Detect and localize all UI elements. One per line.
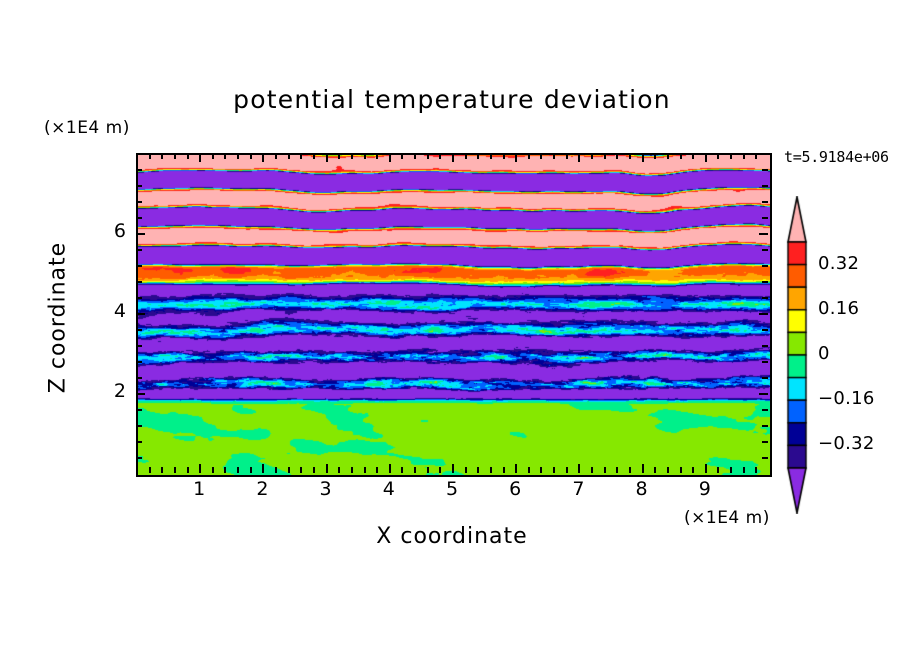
- tick-mark: [566, 153, 568, 159]
- tick-mark: [490, 467, 492, 473]
- tick-mark: [376, 467, 378, 473]
- tick-mark: [364, 153, 366, 159]
- tick-mark: [288, 153, 290, 159]
- tick-mark: [755, 153, 757, 159]
- tick-mark: [452, 464, 454, 473]
- tick-mark: [212, 153, 214, 159]
- tick-mark: [553, 153, 555, 159]
- tick-mark: [465, 153, 467, 159]
- tick-mark: [762, 169, 768, 171]
- x-tick-label: 2: [242, 478, 282, 500]
- tick-mark: [515, 153, 517, 162]
- contour-field-canvas: [138, 155, 770, 475]
- colorbar-canvas: [784, 196, 810, 514]
- tick-mark: [262, 153, 264, 162]
- z-axis-unit-label: (×1E4 m): [44, 118, 130, 138]
- tick-mark: [161, 153, 163, 159]
- tick-mark: [338, 153, 340, 159]
- tick-mark: [300, 153, 302, 159]
- x-tick-label: 7: [558, 478, 598, 500]
- tick-mark: [490, 153, 492, 159]
- tick-mark: [427, 153, 429, 159]
- tick-mark: [762, 329, 768, 331]
- tick-mark: [477, 153, 479, 159]
- tick-mark: [187, 153, 189, 159]
- tick-mark: [414, 467, 416, 473]
- tick-mark: [237, 153, 239, 159]
- x-tick-label: 4: [369, 478, 409, 500]
- tick-mark: [743, 153, 745, 159]
- tick-mark: [250, 467, 252, 473]
- tick-mark: [401, 467, 403, 473]
- colorbar: [784, 196, 810, 514]
- tick-mark: [136, 233, 145, 235]
- tick-mark: [578, 464, 580, 473]
- x-axis-title: X coordinate: [0, 524, 904, 549]
- tick-mark: [199, 464, 201, 473]
- tick-mark: [762, 425, 768, 427]
- tick-mark: [680, 153, 682, 159]
- tick-mark: [692, 153, 694, 159]
- tick-mark: [288, 467, 290, 473]
- tick-mark: [136, 441, 142, 443]
- tick-mark: [759, 313, 768, 315]
- tick-mark: [427, 467, 429, 473]
- tick-mark: [503, 153, 505, 159]
- tick-mark: [136, 281, 142, 283]
- tick-mark: [755, 467, 757, 473]
- tick-mark: [759, 393, 768, 395]
- tick-mark: [591, 153, 593, 159]
- tick-mark: [136, 457, 142, 459]
- tick-mark: [136, 169, 142, 171]
- tick-mark: [762, 441, 768, 443]
- y-tick-label: 6: [92, 220, 126, 242]
- tick-mark: [439, 467, 441, 473]
- tick-mark: [667, 153, 669, 159]
- tick-mark: [136, 345, 142, 347]
- tick-mark: [762, 265, 768, 267]
- x-tick-label: 5: [432, 478, 472, 500]
- tick-mark: [262, 464, 264, 473]
- tick-mark: [224, 467, 226, 473]
- tick-mark: [275, 467, 277, 473]
- tick-mark: [136, 377, 142, 379]
- tick-mark: [730, 153, 732, 159]
- tick-mark: [762, 217, 768, 219]
- tick-mark: [149, 467, 151, 473]
- tick-mark: [300, 467, 302, 473]
- tick-mark: [161, 467, 163, 473]
- time-stamp-annotation: t=5.9184e+06: [784, 148, 889, 166]
- tick-mark: [717, 467, 719, 473]
- tick-mark: [642, 464, 644, 473]
- tick-mark: [237, 467, 239, 473]
- tick-mark: [136, 329, 142, 331]
- tick-mark: [136, 361, 142, 363]
- tick-mark: [250, 153, 252, 159]
- tick-mark: [762, 201, 768, 203]
- page-title: potential temperature deviation: [0, 85, 904, 114]
- tick-mark: [616, 153, 618, 159]
- tick-mark: [629, 467, 631, 473]
- tick-mark: [187, 467, 189, 473]
- y-tick-label: 2: [92, 380, 126, 402]
- tick-mark: [275, 153, 277, 159]
- tick-mark: [136, 249, 142, 251]
- tick-mark: [174, 467, 176, 473]
- tick-mark: [439, 153, 441, 159]
- tick-mark: [338, 467, 340, 473]
- tick-mark: [477, 467, 479, 473]
- tick-mark: [351, 467, 353, 473]
- tick-mark: [680, 467, 682, 473]
- tick-mark: [762, 361, 768, 363]
- tick-mark: [762, 297, 768, 299]
- tick-mark: [313, 153, 315, 159]
- tick-mark: [591, 467, 593, 473]
- tick-mark: [136, 265, 142, 267]
- tick-mark: [465, 467, 467, 473]
- tick-mark: [642, 153, 644, 162]
- tick-mark: [326, 153, 328, 162]
- tick-mark: [528, 153, 530, 159]
- tick-mark: [616, 467, 618, 473]
- tick-mark: [452, 153, 454, 162]
- tick-mark: [759, 233, 768, 235]
- tick-mark: [743, 467, 745, 473]
- tick-mark: [149, 153, 151, 159]
- figure-root: potential temperature deviation (×1E4 m)…: [0, 0, 904, 654]
- tick-mark: [762, 249, 768, 251]
- colorbar-tick-label: 0: [818, 343, 830, 364]
- tick-mark: [376, 153, 378, 159]
- tick-mark: [136, 185, 142, 187]
- tick-mark: [364, 467, 366, 473]
- colorbar-tick-label: −0.32: [818, 433, 875, 454]
- tick-mark: [540, 467, 542, 473]
- tick-mark: [224, 153, 226, 159]
- tick-mark: [667, 467, 669, 473]
- colorbar-tick-label: 0.16: [818, 298, 859, 319]
- tick-mark: [553, 467, 555, 473]
- tick-mark: [717, 153, 719, 159]
- tick-mark: [136, 425, 142, 427]
- tick-mark: [174, 153, 176, 159]
- tick-mark: [762, 377, 768, 379]
- tick-mark: [136, 217, 142, 219]
- tick-mark: [705, 153, 707, 162]
- tick-mark: [629, 153, 631, 159]
- tick-mark: [692, 467, 694, 473]
- tick-mark: [136, 201, 142, 203]
- x-tick-label: 3: [306, 478, 346, 500]
- tick-mark: [199, 153, 201, 162]
- y-tick-label: 4: [92, 300, 126, 322]
- tick-mark: [654, 153, 656, 159]
- tick-mark: [566, 467, 568, 473]
- colorbar-tick-label: 0.32: [818, 253, 859, 274]
- tick-mark: [528, 467, 530, 473]
- tick-mark: [604, 153, 606, 159]
- tick-mark: [503, 467, 505, 473]
- tick-mark: [654, 467, 656, 473]
- tick-mark: [762, 345, 768, 347]
- tick-mark: [326, 464, 328, 473]
- tick-mark: [414, 153, 416, 159]
- tick-mark: [389, 464, 391, 473]
- tick-mark: [762, 185, 768, 187]
- tick-mark: [136, 313, 145, 315]
- tick-mark: [313, 467, 315, 473]
- tick-mark: [351, 153, 353, 159]
- plot-area: [136, 153, 772, 477]
- tick-mark: [762, 281, 768, 283]
- x-tick-label: 6: [495, 478, 535, 500]
- colorbar-tick-label: −0.16: [818, 388, 875, 409]
- x-tick-label: 1: [179, 478, 219, 500]
- x-tick-label: 9: [685, 478, 725, 500]
- tick-mark: [136, 297, 142, 299]
- x-tick-label: 8: [622, 478, 662, 500]
- tick-mark: [540, 153, 542, 159]
- tick-mark: [401, 153, 403, 159]
- tick-mark: [136, 409, 142, 411]
- tick-mark: [578, 153, 580, 162]
- y-axis-title: Z coordinate: [46, 208, 71, 428]
- tick-mark: [762, 457, 768, 459]
- tick-mark: [730, 467, 732, 473]
- tick-mark: [136, 393, 145, 395]
- tick-mark: [389, 153, 391, 162]
- tick-mark: [604, 467, 606, 473]
- tick-mark: [212, 467, 214, 473]
- tick-mark: [762, 409, 768, 411]
- tick-mark: [515, 464, 517, 473]
- tick-mark: [705, 464, 707, 473]
